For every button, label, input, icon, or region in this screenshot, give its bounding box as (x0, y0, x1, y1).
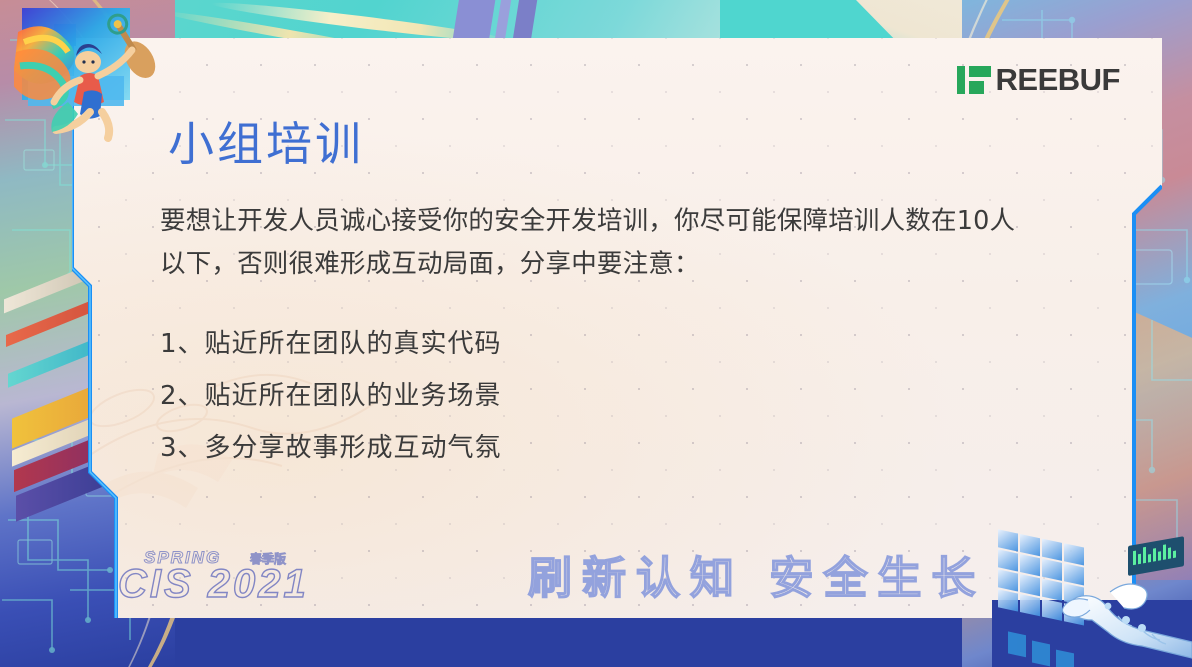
freebuf-f-mark-icon (957, 66, 991, 94)
freebuf-mark-top-bar (969, 66, 991, 77)
freebuf-mark-middle-bar (969, 81, 984, 94)
list-item: 2、贴近所在团队的业务场景 (160, 370, 920, 422)
list-item: 3、多分享故事形成互动气氛 (160, 422, 920, 474)
freebuf-mark-vertical-bar (957, 66, 965, 94)
freebuf-wordmark: REEBUF (996, 62, 1120, 98)
cis-conference-logo: SPRING 春季版 CIS 2021 (128, 548, 318, 606)
slide-bullet-list: 1、贴近所在团队的真实代码 2、贴近所在团队的业务场景 3、多分享故事形成互动气… (160, 318, 920, 474)
robot-hand-illustration (992, 522, 1192, 667)
cis-name-text: CIS 2021 (118, 562, 309, 607)
list-item: 1、贴近所在团队的真实代码 (160, 318, 920, 370)
slide-title: 小组培训 (168, 108, 364, 174)
presentation-slide: REEBUF 小组培训 要想让开发人员诚心接受你的安全开发培训，你尽可能保障培训… (0, 0, 1192, 667)
conference-slogan: 刷新认知 安全生长 (528, 542, 985, 606)
freebuf-logo: REEBUF (957, 62, 1120, 98)
slide-body-text: 要想让开发人员诚心接受你的安全开发培训，你尽可能保障培训人数在10人以下，否则很… (160, 200, 1040, 286)
